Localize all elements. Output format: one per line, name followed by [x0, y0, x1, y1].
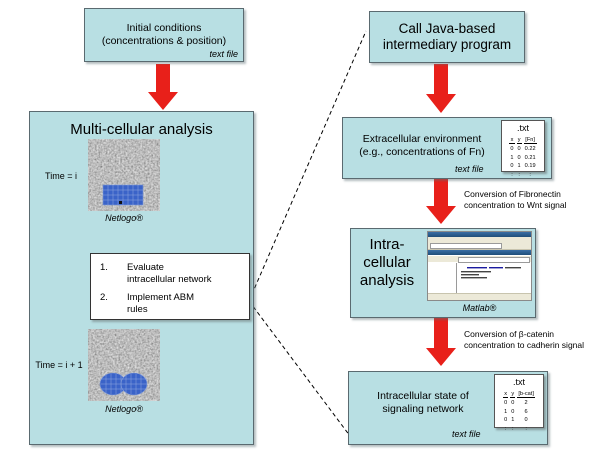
step-1-number: 1.	[100, 262, 108, 273]
intracellular-state-txt-table: xy[b-cat]002106010:::	[501, 389, 537, 434]
conversion-2-line2: concentration to cadherin signal	[464, 340, 599, 351]
matlab-screenshot	[427, 231, 532, 301]
intracellular-analysis-line1: Intra-	[356, 236, 418, 254]
matlab-addressbar	[430, 243, 502, 249]
intracellular-analysis-line3: analysis	[356, 272, 418, 290]
step-2-line2: rules	[127, 304, 148, 316]
arrow-intracellular-to-state	[426, 318, 456, 366]
txt-cell: 0.22	[524, 146, 537, 152]
conversion-1-line2: concentration to Wnt signal	[464, 200, 599, 211]
matlab-secondary-titlebar	[428, 250, 531, 255]
initial-conditions-file-note: text file	[209, 49, 238, 59]
extracellular-text: Extracellular environment (e.g., concent…	[342, 133, 502, 159]
conversion-1-line1: Conversion of Fibronectin	[464, 189, 599, 200]
txt-row: 000.22	[509, 146, 536, 152]
txt-row: :::	[503, 426, 535, 432]
intracellular-analysis-text: Intra- cellular analysis	[356, 236, 418, 290]
netlogo-cell-cluster-top	[103, 185, 143, 205]
diagram-canvas: Initial conditions (concentrations & pos…	[0, 0, 600, 474]
extracellular-txt-header: .txt	[502, 121, 544, 133]
matlab-left-pane	[428, 263, 457, 294]
step-2-number: 2.	[100, 292, 108, 303]
txt-cell: 0.21	[524, 155, 537, 161]
java-call-line1: Call Java-based	[399, 21, 496, 37]
extracellular-txt-card: .txt xy[Fn]000.22100.21010.19:::	[501, 120, 545, 172]
extracellular-txt-table: xy[Fn]000.22100.21010.19:::	[507, 135, 538, 180]
initial-conditions-line2: (concentrations & position)	[102, 35, 226, 48]
txt-header-row: xy[Fn]	[509, 137, 536, 144]
txt-row: 106	[503, 409, 535, 415]
arrow-initial-to-multicellular	[148, 64, 178, 110]
txt-cell: 1	[517, 163, 522, 169]
conversion-2-note: Conversion of β-catenin concentration to…	[464, 329, 599, 351]
intracellular-state-txt-body: xy[b-cat]002106010:::	[503, 391, 535, 432]
initial-conditions-line1: Initial conditions	[127, 22, 202, 35]
txt-header-cell: x	[503, 391, 508, 398]
txt-cell: 0	[517, 155, 522, 161]
txt-header-row: xy[b-cat]	[503, 391, 535, 398]
intracellular-analysis-line2: cellular	[356, 254, 418, 272]
matlab-statusbar	[428, 293, 531, 300]
multicellular-analysis-title: Multi-cellular analysis	[29, 121, 254, 139]
txt-header-cell: y	[510, 391, 515, 398]
java-call-box[interactable]: Call Java-based intermediary program	[369, 11, 525, 63]
initial-conditions-box[interactable]: Initial conditions (concentrations & pos…	[84, 8, 244, 62]
txt-cell: :	[517, 172, 522, 178]
intracellular-state-txt-header: .txt	[495, 375, 543, 387]
txt-row: 002	[503, 400, 535, 406]
steps-box[interactable]	[90, 253, 250, 320]
intracellular-state-line1: Intracellular state of	[348, 390, 498, 403]
extracellular-line1: Extracellular environment	[342, 133, 502, 146]
conversion-2-line1: Conversion of β-catenin	[464, 329, 599, 340]
netlogo-noise-bottom	[88, 329, 160, 401]
txt-cell: :	[517, 426, 535, 432]
txt-cell: 0	[517, 417, 535, 423]
intracellular-state-text: Intracellular state of signaling network	[348, 390, 498, 416]
step-1-line2: intracellular network	[127, 274, 211, 286]
extracellular-file-note: text file	[455, 164, 484, 174]
netlogo-image-top	[88, 139, 160, 211]
txt-header-cell: [b-cat]	[517, 391, 535, 398]
txt-cell: 1	[510, 417, 515, 423]
txt-header-cell: x	[509, 137, 514, 144]
netlogo-image-bottom	[88, 329, 160, 401]
intracellular-state-file-note: text file	[452, 429, 481, 439]
netlogo-noise-top	[88, 139, 160, 211]
txt-cell: :	[510, 426, 515, 432]
txt-cell: 0	[503, 417, 508, 423]
txt-row: :::	[509, 172, 536, 178]
intracellular-state-txt-card: .txt xy[b-cat]002106010:::	[494, 374, 544, 428]
netlogo-caption-bottom: Netlogo®	[88, 404, 160, 414]
conversion-1-note: Conversion of Fibronectin concentration …	[464, 189, 599, 211]
txt-row: 010	[503, 417, 535, 423]
matlab-caption: Matlab®	[427, 303, 532, 313]
txt-cell: 0	[503, 400, 508, 406]
extracellular-line2: (e.g., concentrations of Fn)	[342, 146, 502, 159]
txt-cell: 1	[503, 409, 508, 415]
txt-cell: :	[509, 172, 514, 178]
java-call-line2: intermediary program	[383, 37, 511, 53]
time-top-label: Time = i	[36, 171, 86, 182]
txt-cell: :	[503, 426, 508, 432]
txt-cell: 0	[509, 163, 514, 169]
txt-cell: 0	[517, 146, 522, 152]
netlogo-caption-top: Netlogo®	[88, 213, 160, 223]
step-2-line1: Implement ABM	[127, 292, 194, 304]
txt-cell: 1	[509, 155, 514, 161]
time-bottom-label: Time = i + 1	[30, 360, 88, 371]
txt-header-cell: [Fn]	[524, 137, 537, 144]
txt-cell: 6	[517, 409, 535, 415]
txt-cell: :	[524, 172, 537, 178]
txt-cell: 0	[510, 400, 515, 406]
arrow-extracellular-to-intracellular	[426, 178, 456, 224]
txt-cell: 0	[509, 146, 514, 152]
txt-header-cell: y	[517, 137, 522, 144]
txt-cell: 0.19	[524, 163, 537, 169]
step-1-line1: Evaluate	[127, 262, 164, 274]
txt-cell: 2	[517, 400, 535, 406]
txt-row: 100.21	[509, 155, 536, 161]
arrow-java-to-extracellular	[426, 64, 456, 113]
intracellular-state-line2: signaling network	[348, 403, 498, 416]
txt-cell: 0	[510, 409, 515, 415]
extracellular-txt-body: xy[Fn]000.22100.21010.19:::	[509, 137, 536, 178]
txt-row: 010.19	[509, 163, 536, 169]
matlab-code-lines	[459, 265, 531, 287]
